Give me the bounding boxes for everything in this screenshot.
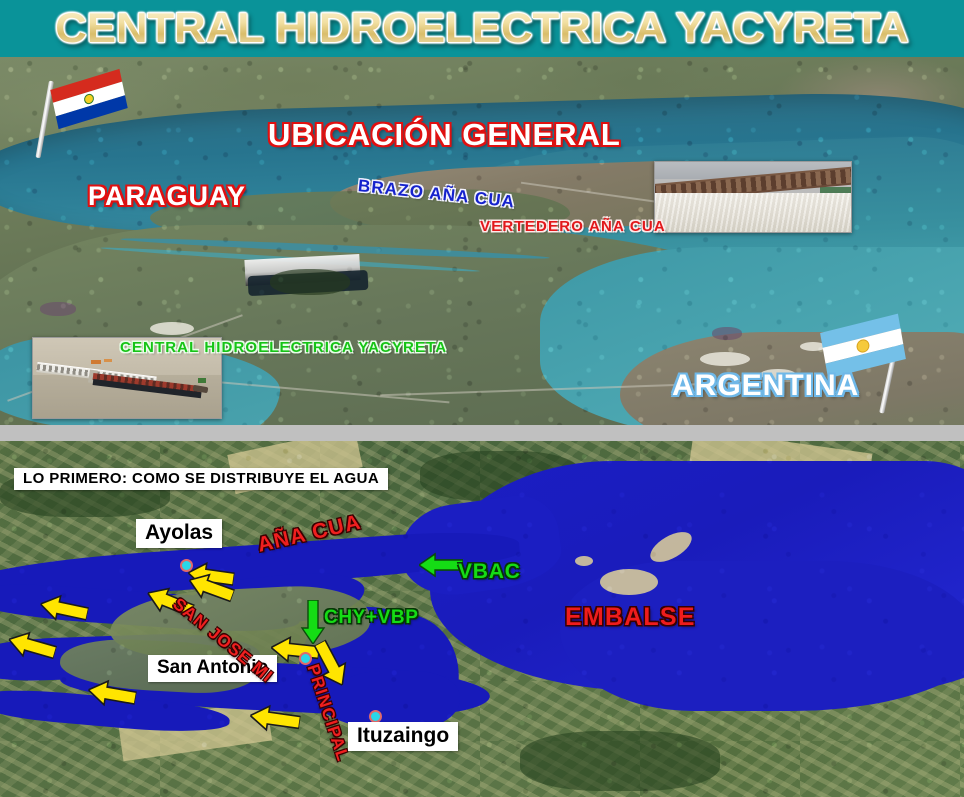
panel-separator	[0, 425, 964, 441]
vbac-flow-arrow-icon	[419, 552, 463, 578]
map-panel-distribucion-agua: LO PRIMERO: COMO SE DISTRIBUYE EL AGUA	[0, 441, 964, 797]
place-label-ayolas: Ayolas	[136, 519, 222, 548]
poster-root: CENTRAL HIDROELECTRICA YACYRETA	[0, 0, 964, 797]
place-label-ituzaingo: Ituzaingo	[348, 722, 458, 751]
station-marker-ayolas[interactable]	[180, 559, 193, 572]
powerhouse-green-tip	[198, 378, 206, 383]
country-label-argentina: ARGENTINA	[672, 369, 859, 403]
country-label-paraguay: PARAGUAY	[88, 181, 246, 212]
water-body-label-embalse: EMBALSE	[565, 603, 696, 632]
vertedero-ana-cua-photo	[654, 161, 852, 233]
spillway-foam-texture	[655, 193, 851, 232]
feature-label-central-hidroelectrica: CENTRAL HIDROELECTRICA YACYRETA	[120, 339, 447, 356]
satellite-noise-layer-2	[0, 441, 964, 797]
site-building	[104, 359, 112, 362]
page-title: CENTRAL HIDROELECTRICA YACYRETA	[0, 3, 964, 53]
section-title-ubicacion-general: UBICACIÓN GENERAL	[268, 117, 621, 153]
feature-label-vertedero-ana-cua: VERTEDERO AÑA CUA	[480, 218, 666, 235]
discharge-label-vbac: VBAC	[458, 560, 521, 584]
header-banner: CENTRAL HIDROELECTRICA YACYRETA	[0, 0, 964, 57]
site-building	[91, 360, 100, 364]
station-marker-san-antonio[interactable]	[299, 652, 312, 665]
banner-distribucion-agua: LO PRIMERO: COMO SE DISTRIBUYE EL AGUA	[14, 468, 388, 490]
discharge-label-chy-vbp: CHY+VBP	[324, 607, 418, 629]
